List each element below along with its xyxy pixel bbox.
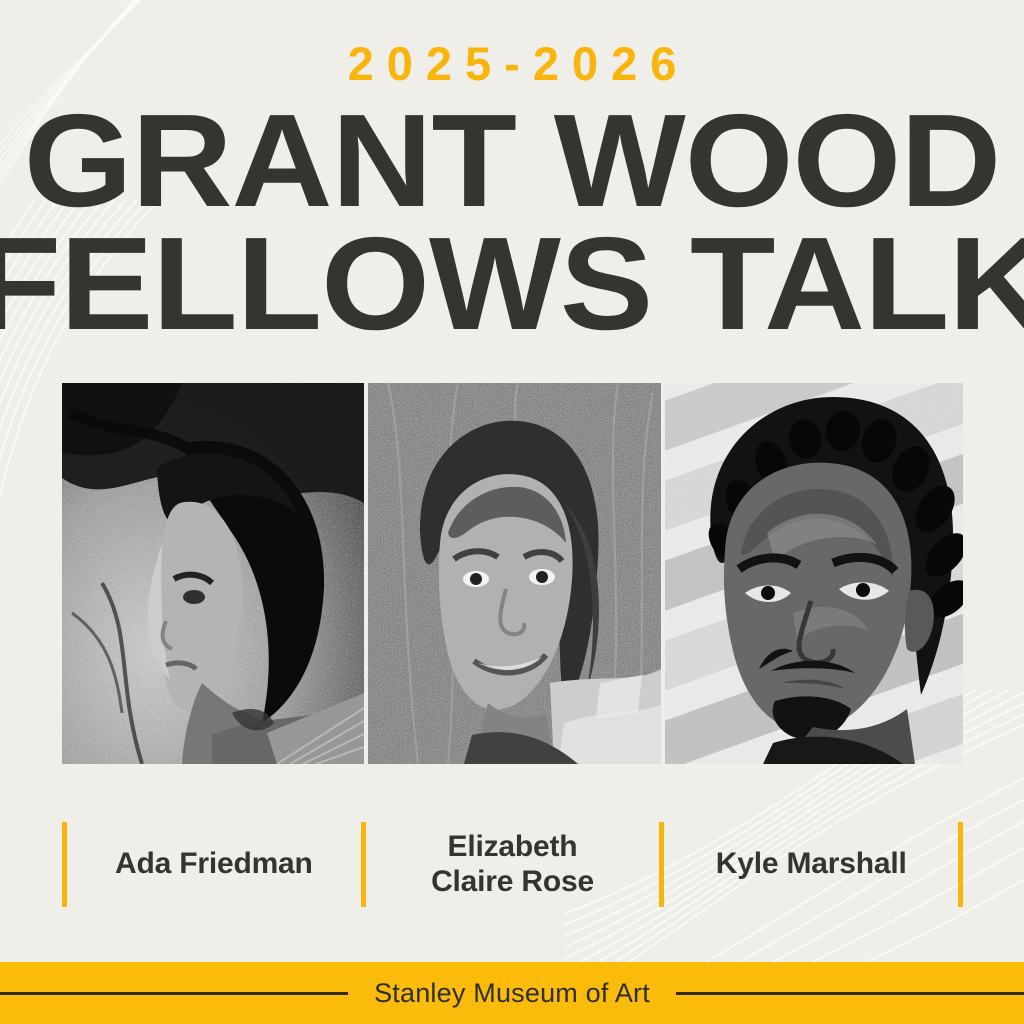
fellow-name-2-line-2: Claire Rose	[431, 865, 594, 898]
fellow-photo-strip	[62, 383, 963, 764]
fellow-photo-ada-friedman	[62, 383, 364, 764]
fellow-photo-elizabeth-claire-rose	[368, 383, 661, 764]
poster-canvas: 2025-2026 GRANT WOOD FELLOWS TALK	[0, 0, 1024, 1024]
footer-rule-right	[676, 992, 1024, 995]
fellow-names-row: Ada Friedman Elizabeth Claire Rose Kyle …	[62, 822, 963, 907]
footer-rule-left	[0, 992, 348, 995]
organization-name: Stanley Museum of Art	[348, 978, 676, 1009]
name-divider-right	[958, 822, 963, 907]
page-title: GRANT WOOD FELLOWS TALK	[0, 100, 1024, 346]
fellow-name-3-line-1: Kyle Marshall	[716, 847, 907, 880]
footer-band: Stanley Museum of Art	[0, 962, 1024, 1024]
page-title-line-2: FELLOWS TALK	[0, 223, 1024, 346]
year-range-label: 2025-2026	[0, 40, 1024, 87]
page-title-line-1: GRANT WOOD	[0, 100, 1024, 223]
fellow-name-cell-2: Elizabeth Claire Rose	[366, 822, 660, 907]
fellow-name-cell-1: Ada Friedman	[67, 822, 361, 907]
fellow-photo-kyle-marshall	[665, 383, 963, 764]
fellow-name-2-line-1: Elizabeth	[448, 830, 578, 863]
fellow-name-cell-3: Kyle Marshall	[664, 822, 958, 907]
fellow-name-1-line-1: Ada Friedman	[115, 847, 313, 880]
